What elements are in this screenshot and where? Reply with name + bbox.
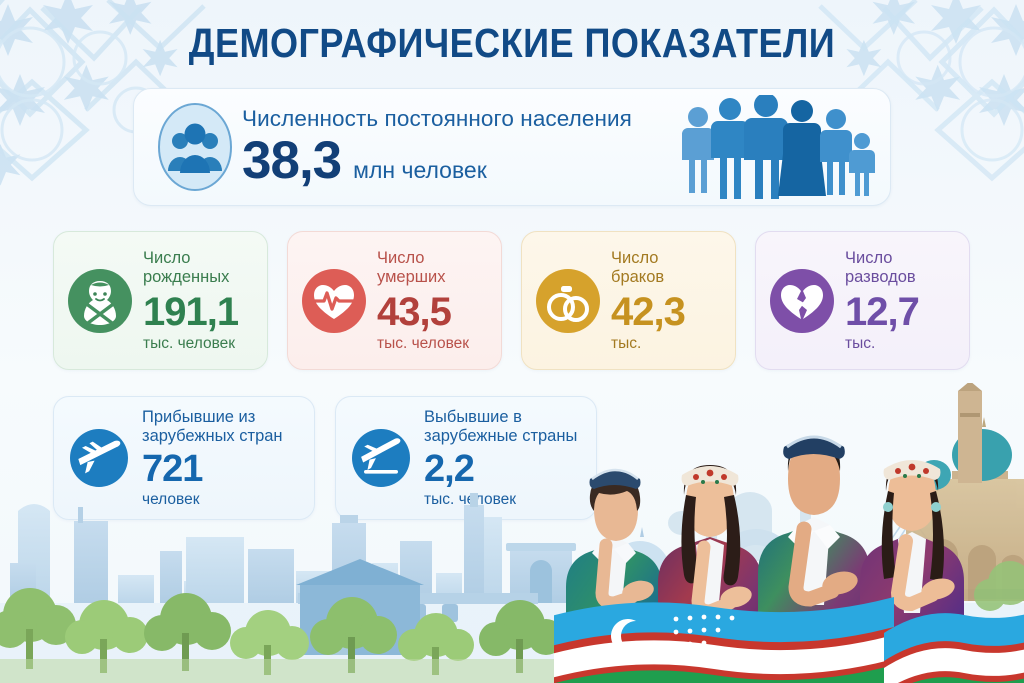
swaddled-baby-icon <box>68 269 132 333</box>
stat-body-marriage: Число браков 42,3 тыс. <box>611 249 735 353</box>
stat-unit-arrived: человек <box>142 491 314 509</box>
stat-value-marriage: 42,3 <box>611 290 735 335</box>
stat-label-departed-line2: зарубежные страны <box>424 427 596 447</box>
stat-unit-departed: тыс. человек <box>424 491 596 509</box>
stat-value-divorce: 12,7 <box>845 290 969 335</box>
page-title: ДЕМОГРАФИЧЕСКИЕ ПОКАЗАТЕЛИ <box>61 20 962 66</box>
uzbekistan-flag <box>554 597 1024 683</box>
stat-value-died: 43,5 <box>377 290 501 335</box>
stat-label-departed-line1: Выбывшие в <box>424 408 596 428</box>
population-hero-card: Численность постоянного населения 38,3 м… <box>133 88 891 206</box>
airplane-departing-icon <box>352 429 410 487</box>
stat-body-died: Число умерших 43,5 тыс. человек <box>377 249 501 353</box>
population-value: 38,3 <box>242 133 341 189</box>
stat-card-divorce: Число разводов 12,7 тыс. <box>755 231 970 370</box>
stat-unit-divorce: тыс. <box>845 335 969 353</box>
broken-heart-icon <box>770 269 834 333</box>
tashkent-tv-tower <box>940 621 1006 683</box>
stat-card-arrived: Прибывшие из зарубежных стран 721 челове… <box>53 396 315 520</box>
stat-card-born: Число рожденных 191,1 тыс. человек <box>53 231 268 370</box>
stat-label-arrived-line1: Прибывшие из <box>142 408 314 428</box>
infographic-root: Численность постоянного населения 38,3 м… <box>0 0 1024 683</box>
population-unit: млн человек <box>353 157 487 184</box>
population-text-block: Численность постоянного населения 38,3 м… <box>242 106 676 189</box>
stat-card-died: Число умерших 43,5 тыс. человек <box>287 231 502 370</box>
person-girl <box>658 465 762 683</box>
tree-line <box>0 563 1024 683</box>
stat-label-died-line1: Число <box>377 249 501 269</box>
heart-pulse-icon <box>302 269 366 333</box>
stat-value-born: 191,1 <box>143 290 267 335</box>
stat-value-arrived: 721 <box>142 448 314 491</box>
stat-label-arrived-line2: зарубежных стран <box>142 427 314 447</box>
stat-card-marriage: Число браков 42,3 тыс. <box>521 231 736 370</box>
stat-label-born-line2: рожденных <box>143 268 267 288</box>
stat-body-born: Число рожденных 191,1 тыс. человек <box>143 249 267 353</box>
stat-card-departed: Выбывшие в зарубежные страны 2,2 тыс. че… <box>335 396 597 520</box>
stat-unit-marriage: тыс. <box>611 335 735 353</box>
wedding-rings-icon <box>536 269 600 333</box>
uzbek-family-in-traditional-dress <box>554 383 1024 683</box>
stat-body-divorce: Число разводов 12,7 тыс. <box>845 249 969 353</box>
stat-unit-died: тыс. человек <box>377 335 501 353</box>
stat-value-departed: 2,2 <box>424 448 596 491</box>
stat-label-died-line2: умерших <box>377 268 501 288</box>
stat-label-born-line1: Число <box>143 249 267 269</box>
airplane-arriving-icon <box>70 429 128 487</box>
family-silhouettes-icon <box>676 95 876 199</box>
stat-label-divorce-line1: Число <box>845 249 969 269</box>
stat-label-marriage-line2: браков <box>611 268 735 288</box>
stat-unit-born: тыс. человек <box>143 335 267 353</box>
person-man <box>758 437 870 683</box>
stat-body-arrived: Прибывшие из зарубежных стран 721 челове… <box>142 408 314 509</box>
group-of-people-icon <box>156 101 234 193</box>
stat-label-divorce-line2: разводов <box>845 268 969 288</box>
person-woman <box>860 460 964 683</box>
population-label: Численность постоянного населения <box>242 106 676 132</box>
stat-body-departed: Выбывшие в зарубежные страны 2,2 тыс. че… <box>424 408 596 509</box>
stat-label-marriage-line1: Число <box>611 249 735 269</box>
